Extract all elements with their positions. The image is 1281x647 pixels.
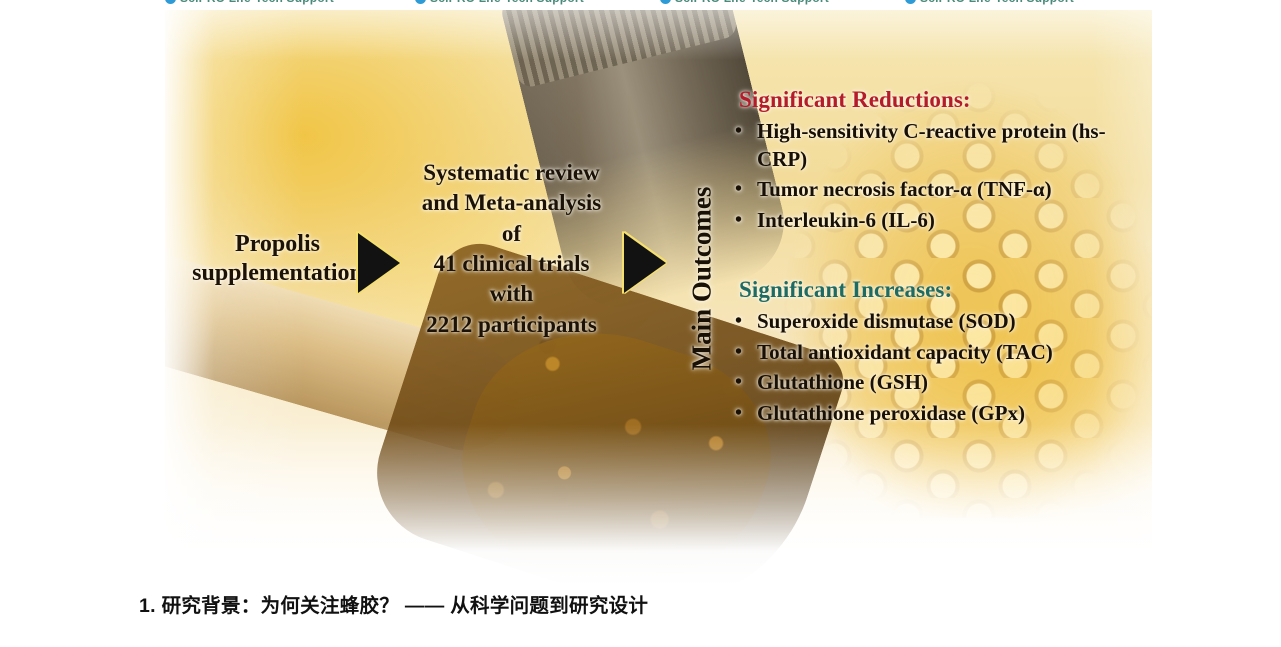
bullet-icon: •	[735, 339, 757, 365]
main-outcomes-label: Main Outcomes	[687, 164, 718, 394]
graphical-abstract-figure: Propolissupplementation Systematic revie…	[165, 8, 1152, 586]
outcome-item: • Interleukin-6 (IL-6)	[735, 207, 1152, 235]
bullet-icon: •	[735, 369, 757, 395]
outcome-item-label: Tumor necrosis factor-α (TNF-α)	[757, 176, 1152, 204]
circle-logo-icon	[415, 0, 426, 4]
outcome-item-label: High-sensitivity C-reactive protein (hs-…	[757, 118, 1152, 173]
bullet-icon: •	[735, 207, 757, 233]
outcomes-reductions-list: • High-sensitivity C-reactive protein (h…	[735, 118, 1152, 235]
circle-logo-icon	[165, 0, 176, 4]
outcome-item-label: Interleukin-6 (IL-6)	[757, 207, 1152, 235]
outcomes-increases-panel: Significant Increases: • Superoxide dism…	[735, 277, 1152, 431]
watermark-logo-2: SciPRO Life-Tech Support	[415, 0, 584, 5]
flow-stage-input: Propolissupplementation	[170, 230, 385, 288]
outcome-item-label: Total antioxidant capacity (TAC)	[757, 339, 1152, 367]
outcome-item: • Superoxide dismutase (SOD)	[735, 308, 1152, 336]
outcome-item: • Tumor necrosis factor-α (TNF-α)	[735, 176, 1152, 204]
triangle-right-icon-2	[624, 233, 666, 293]
triangle-right-icon	[358, 233, 400, 293]
watermark-label: SciPRO Life-Tech Support	[180, 0, 334, 5]
bottle-cap	[498, 8, 739, 89]
watermark-logo-1: SciPRO Life-Tech Support	[165, 0, 334, 5]
watermark-logo-3: SciPRO Life-Tech Support	[660, 0, 829, 5]
bullet-icon: •	[735, 308, 757, 334]
bullet-icon: •	[735, 400, 757, 426]
outcome-item-label: Glutathione (GSH)	[757, 369, 1152, 397]
outcome-item: • Glutathione peroxidase (GPx)	[735, 400, 1152, 428]
bullet-icon: •	[735, 118, 757, 144]
outcome-item-label: Glutathione peroxidase (GPx)	[757, 400, 1152, 428]
watermark-label: SciPRO Life-Tech Support	[430, 0, 584, 5]
bullet-icon: •	[735, 176, 757, 202]
section-caption: 1. 研究背景：为何关注蜂胶？ —— 从科学问题到研究设计	[139, 589, 648, 618]
watermark-label: SciPRO Life-Tech Support	[920, 0, 1074, 5]
outcomes-reductions-panel: Significant Reductions: • High-sensitivi…	[735, 87, 1152, 238]
circle-logo-icon	[905, 0, 916, 4]
outcomes-increases-list: • Superoxide dismutase (SOD) • Total ant…	[735, 308, 1152, 428]
watermark-logo-4: SciPRO Life-Tech Support	[905, 0, 1074, 5]
flow-stage-method: Systematic reviewand Meta-analysisof41 c…	[393, 158, 630, 340]
watermark-strip: SciPRO Life-Tech SupportSciPRO Life-Tech…	[0, 0, 1281, 10]
outcome-item: • Glutathione (GSH)	[735, 369, 1152, 397]
outcomes-increases-heading: Significant Increases:	[739, 277, 1152, 303]
outcome-item: • Total antioxidant capacity (TAC)	[735, 339, 1152, 367]
outcomes-reductions-heading: Significant Reductions:	[739, 87, 1152, 113]
outcome-item: • High-sensitivity C-reactive protein (h…	[735, 118, 1152, 173]
circle-logo-icon	[660, 0, 671, 4]
watermark-label: SciPRO Life-Tech Support	[675, 0, 829, 5]
outcome-item-label: Superoxide dismutase (SOD)	[757, 308, 1152, 336]
